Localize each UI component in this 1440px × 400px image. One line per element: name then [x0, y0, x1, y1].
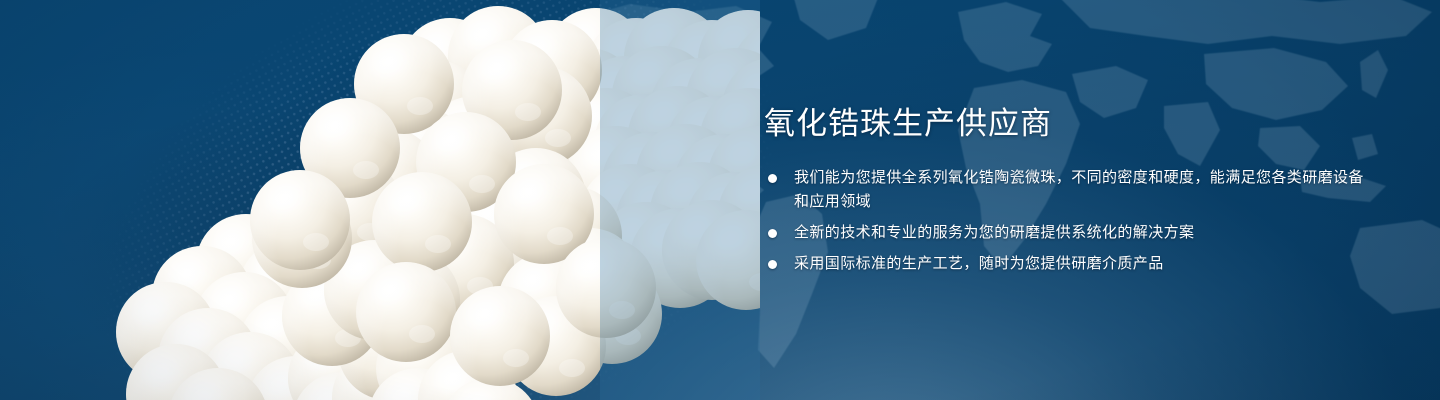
- bullet-dot-icon: [768, 174, 777, 183]
- list-item: 采用国际标准的生产工艺，随时为您提供研磨介质产品: [764, 252, 1364, 276]
- feature-text: 我们能为您提供全系列氧化锆陶瓷微珠，不同的密度和硬度，能满足您各类研磨设备和应用…: [794, 166, 1364, 214]
- page-title: 氧化锆珠生产供应商: [764, 104, 1364, 144]
- list-item: 我们能为您提供全系列氧化锆陶瓷微珠，不同的密度和硬度，能满足您各类研磨设备和应用…: [764, 166, 1364, 214]
- hero-banner: 氧化锆珠生产供应商 我们能为您提供全系列氧化锆陶瓷微珠，不同的密度和硬度，能满足…: [0, 0, 1440, 400]
- list-item: 全新的技术和专业的服务为您的研磨提供系统化的解决方案: [764, 221, 1364, 245]
- feature-text: 全新的技术和专业的服务为您的研磨提供系统化的解决方案: [794, 221, 1364, 245]
- bullet-dot-icon: [768, 229, 777, 238]
- feature-text: 采用国际标准的生产工艺，随时为您提供研磨介质产品: [794, 252, 1364, 276]
- feature-list: 我们能为您提供全系列氧化锆陶瓷微珠，不同的密度和硬度，能满足您各类研磨设备和应用…: [764, 166, 1364, 276]
- banner-copy: 氧化锆珠生产供应商 我们能为您提供全系列氧化锆陶瓷微珠，不同的密度和硬度，能满足…: [764, 104, 1364, 276]
- zirconia-beads-image: [0, 0, 760, 400]
- bullet-dot-icon: [768, 260, 777, 269]
